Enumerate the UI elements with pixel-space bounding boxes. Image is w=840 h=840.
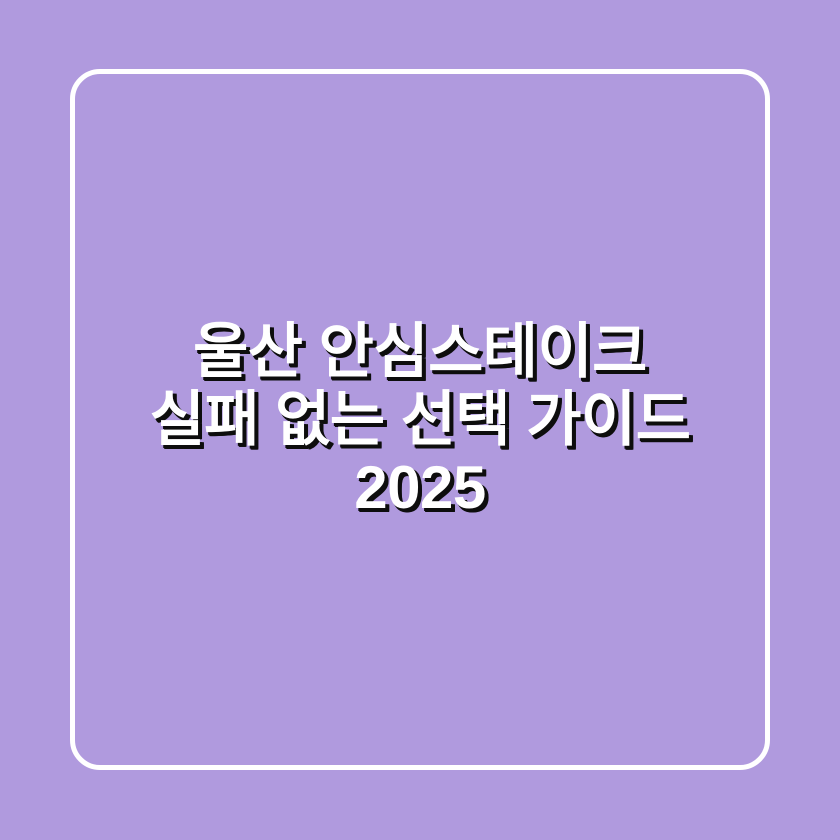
poster-canvas: 울산 안심스테이크 실패 없는 선택 가이드 2025	[0, 0, 840, 840]
title-block: 울산 안심스테이크 실패 없는 선택 가이드 2025	[0, 318, 840, 522]
title-line-1: 울산 안심스테이크	[60, 318, 780, 386]
title-line-2: 실패 없는 선택 가이드	[60, 386, 780, 454]
title-line-3-year: 2025	[60, 454, 780, 522]
